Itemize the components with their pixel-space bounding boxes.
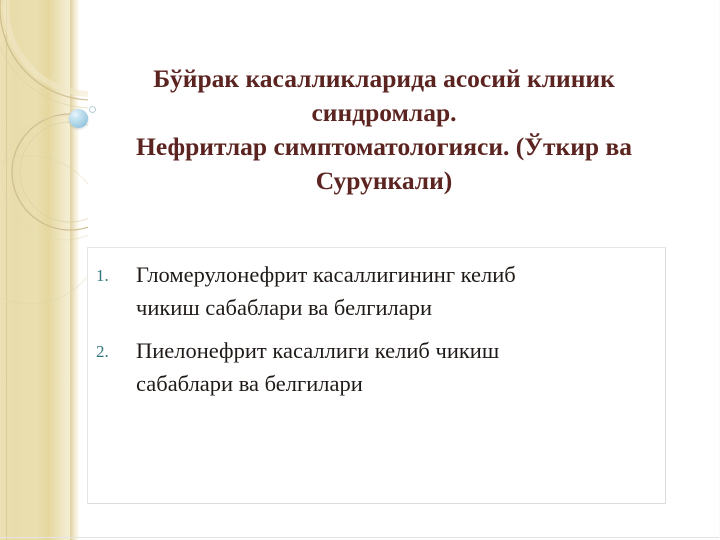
title-line-4: Сурункали) <box>60 164 708 198</box>
list-item-line: Пиелонефрит касаллиги келиб чикиш <box>136 334 665 367</box>
numbered-list: 1. Гломерулонефрит касаллигининг келиб ч… <box>88 258 665 400</box>
slide-canvas: Бўйрак касалликларида асосий клиник синд… <box>0 0 720 540</box>
list-item: 1. Гломерулонефрит касаллигининг келиб ч… <box>88 258 665 324</box>
list-item: 2. Пиелонефрит касаллиги келиб чикиш саб… <box>88 334 665 400</box>
list-item-line: чикиш сабаблари ва белгилари <box>136 291 665 324</box>
slide-title: Бўйрак касалликларида асосий клиник синд… <box>60 62 708 198</box>
bottom-hairline <box>0 537 720 538</box>
list-item-marker: 1. <box>96 260 124 291</box>
title-line-2: синдромлар. <box>60 96 708 130</box>
list-item-marker: 2. <box>96 336 124 367</box>
list-item-line: Гломерулонефрит касаллигининг келиб <box>136 258 665 291</box>
sidebar-inner-hairline <box>6 0 7 540</box>
title-line-3: Нефритлар симптоматологияси. (Ўткир ва <box>60 130 708 164</box>
content-placeholder-box: 1. Гломерулонефрит касаллигининг келиб ч… <box>87 247 666 504</box>
list-item-line: сабаблари ва белгилари <box>136 367 665 400</box>
title-line-1: Бўйрак касалликларида асосий клиник <box>60 62 708 96</box>
